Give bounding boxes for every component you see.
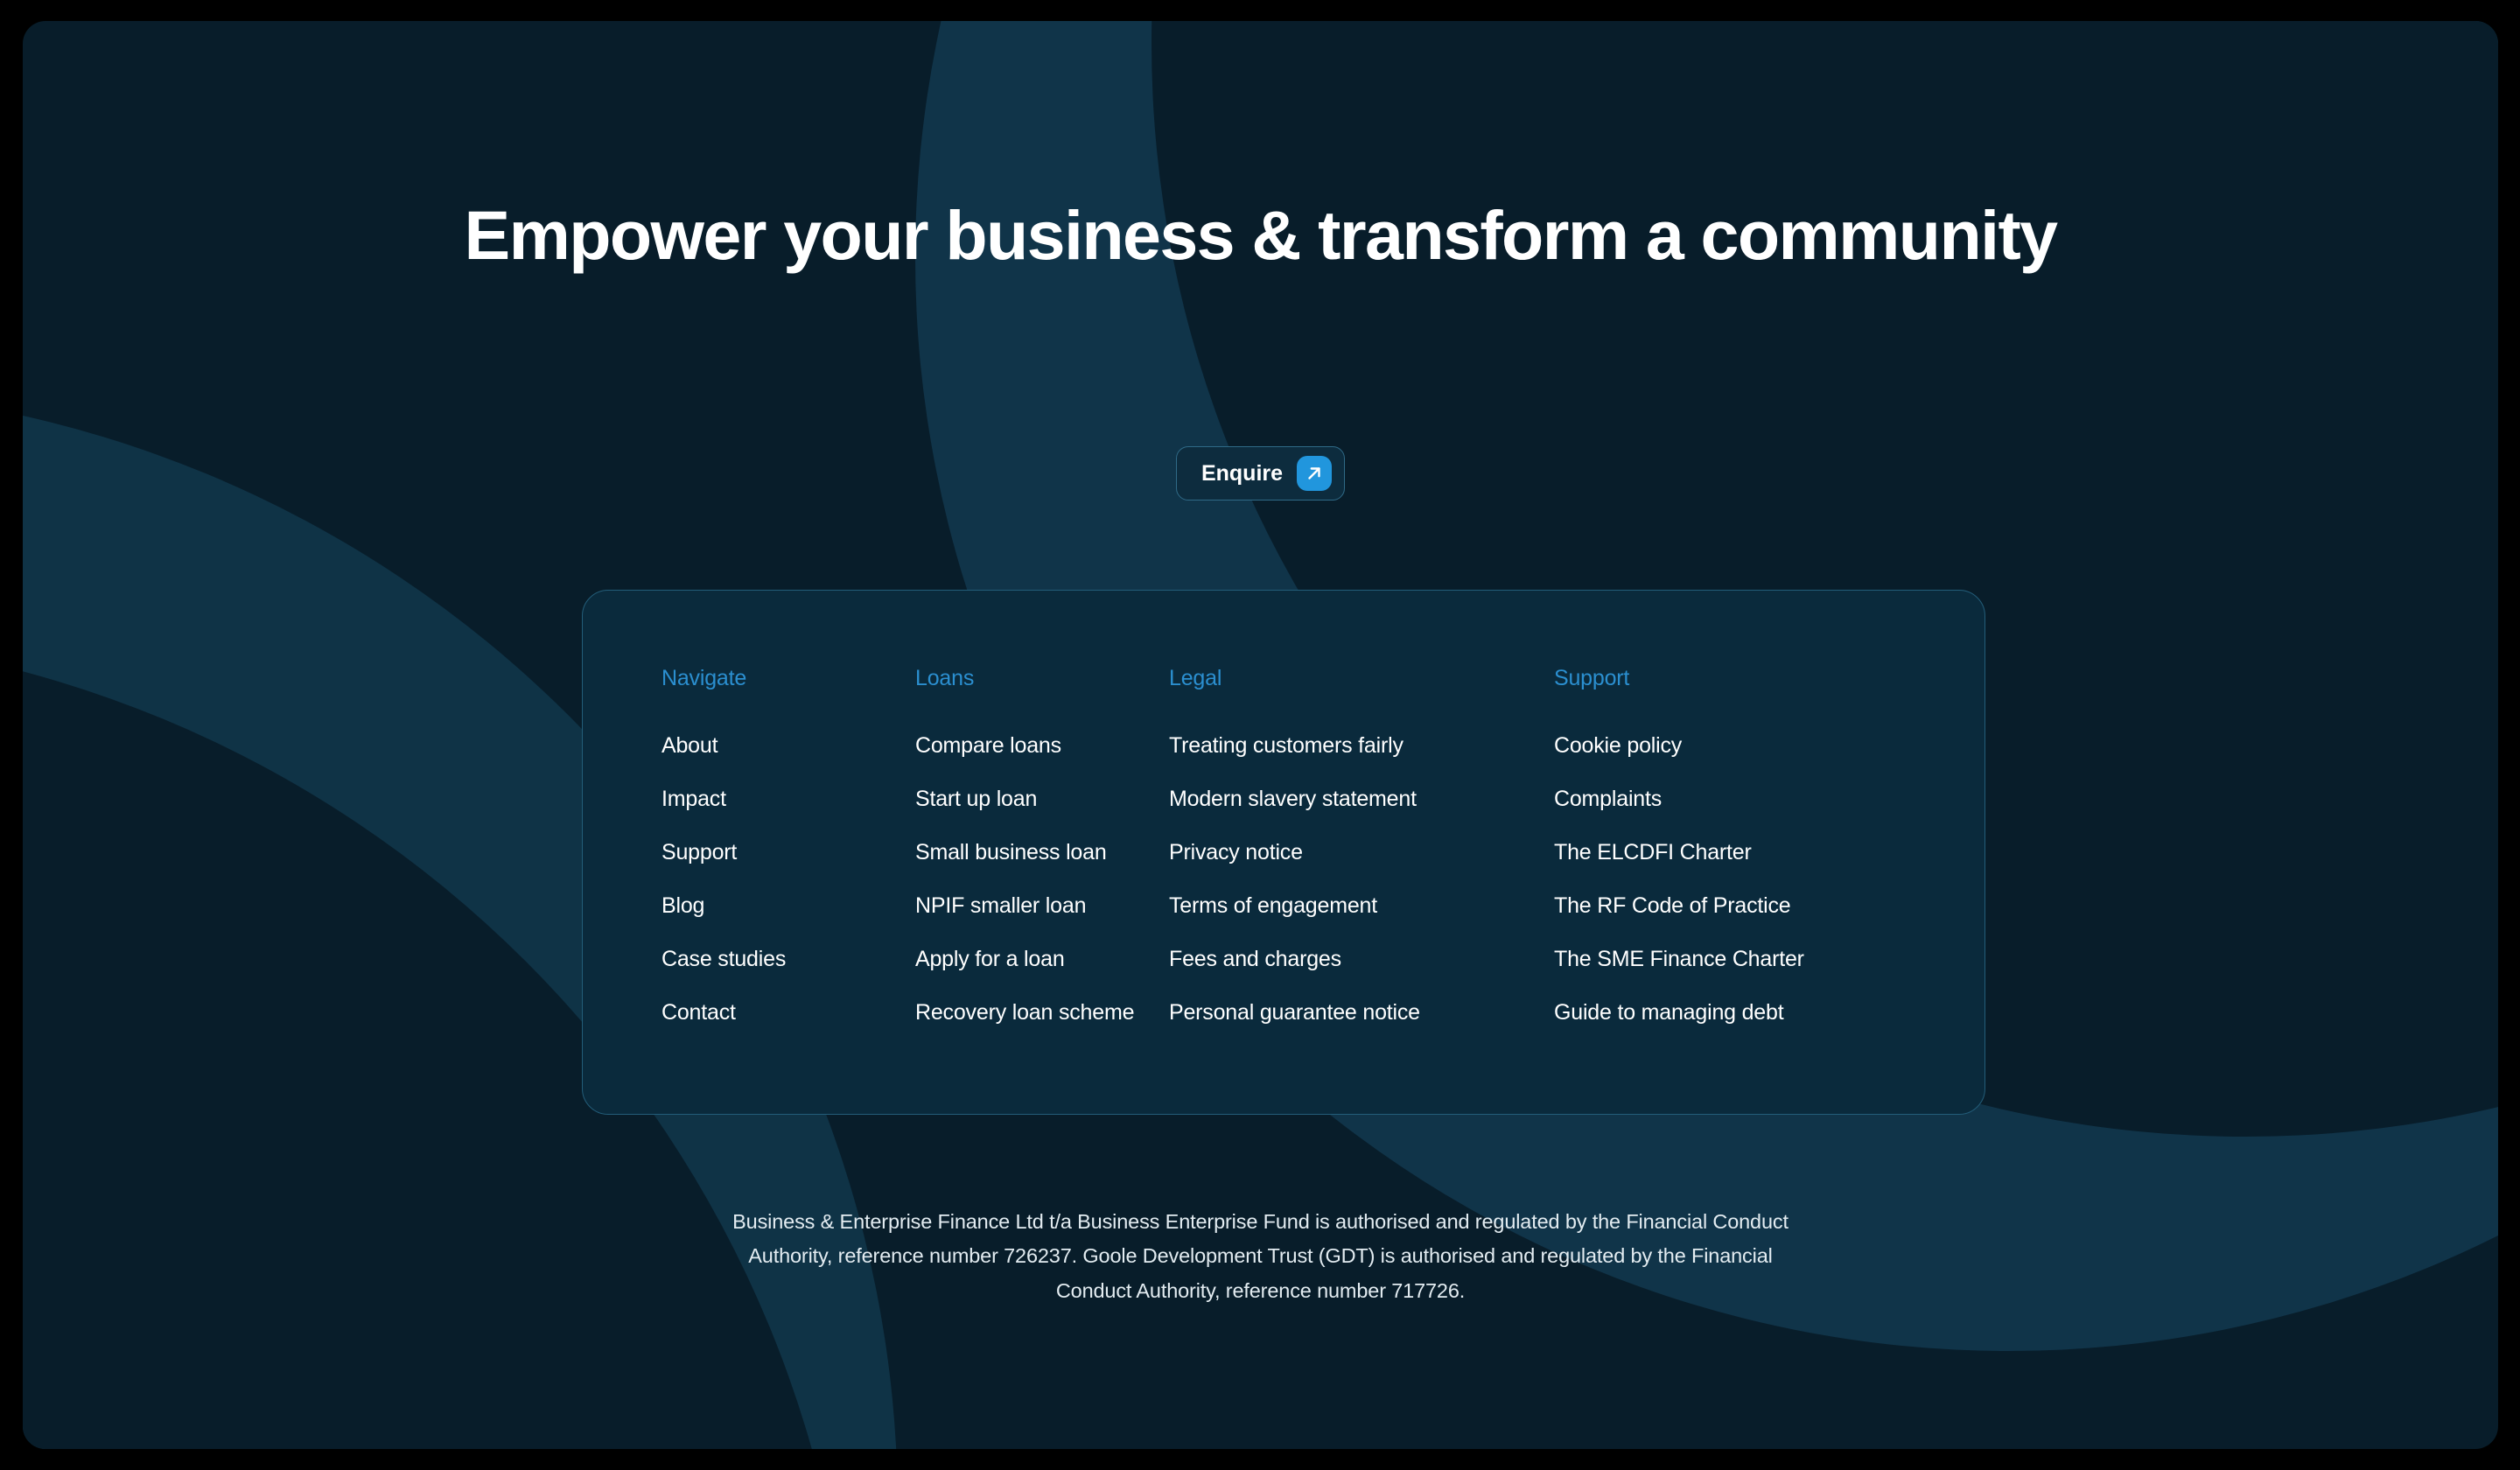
- footer-column-support: Support Cookie policy Complaints The ELC…: [1554, 666, 1808, 1024]
- footer-link[interactable]: NPIF smaller loan: [915, 895, 1169, 917]
- footer-links-card: Navigate About Impact Support Blog Case …: [582, 590, 1985, 1115]
- footer-link[interactable]: Compare loans: [915, 735, 1169, 757]
- footer-link[interactable]: About: [661, 735, 915, 757]
- arrow-up-right-icon: [1297, 456, 1332, 491]
- footer-link[interactable]: The SME Finance Charter: [1554, 948, 1808, 970]
- footer-link[interactable]: Blog: [661, 895, 915, 917]
- footer-column-legal: Legal Treating customers fairly Modern s…: [1169, 666, 1554, 1024]
- footer-link[interactable]: Start up loan: [915, 788, 1169, 810]
- cta-container: Enquire: [23, 446, 2498, 500]
- footer-link[interactable]: Treating customers fairly: [1169, 735, 1554, 757]
- enquire-button[interactable]: Enquire: [1176, 446, 1345, 500]
- footer-link[interactable]: The ELCDFI Charter: [1554, 842, 1808, 864]
- footer-link[interactable]: Personal guarantee notice: [1169, 1002, 1554, 1024]
- footer-column-heading: Loans: [915, 666, 1169, 691]
- footer-link[interactable]: Apply for a loan: [915, 948, 1169, 970]
- footer-link[interactable]: Modern slavery statement: [1169, 788, 1554, 810]
- footer-column-heading: Legal: [1169, 666, 1554, 691]
- footer-link[interactable]: Support: [661, 842, 915, 864]
- footer-link[interactable]: The RF Code of Practice: [1554, 895, 1808, 917]
- footer-link[interactable]: Recovery loan scheme: [915, 1002, 1169, 1024]
- footer-link[interactable]: Small business loan: [915, 842, 1169, 864]
- footer-link[interactable]: Impact: [661, 788, 915, 810]
- footer-column-loans: Loans Compare loans Start up loan Small …: [915, 666, 1169, 1024]
- footer-column-navigate: Navigate About Impact Support Blog Case …: [661, 666, 915, 1024]
- footer-link[interactable]: Cookie policy: [1554, 735, 1808, 757]
- footer-link[interactable]: Terms of engagement: [1169, 895, 1554, 917]
- regulatory-disclaimer: Business & Enterprise Finance Ltd t/a Bu…: [727, 1205, 1795, 1308]
- footer-link[interactable]: Contact: [661, 1002, 915, 1024]
- footer-link[interactable]: Case studies: [661, 948, 915, 970]
- page-content: Empower your business & transform a comm…: [23, 21, 2498, 1449]
- enquire-button-label: Enquire: [1201, 461, 1283, 486]
- footer-column-heading: Support: [1554, 666, 1808, 691]
- footer-link[interactable]: Fees and charges: [1169, 948, 1554, 970]
- page-frame: Empower your business & transform a comm…: [23, 21, 2498, 1449]
- footer-link[interactable]: Complaints: [1554, 788, 1808, 810]
- footer-column-heading: Navigate: [661, 666, 915, 691]
- footer-link[interactable]: Guide to managing debt: [1554, 1002, 1808, 1024]
- footer-columns: Navigate About Impact Support Blog Case …: [661, 666, 1932, 1024]
- footer-link[interactable]: Privacy notice: [1169, 842, 1554, 864]
- page-title: Empower your business & transform a comm…: [23, 194, 2498, 276]
